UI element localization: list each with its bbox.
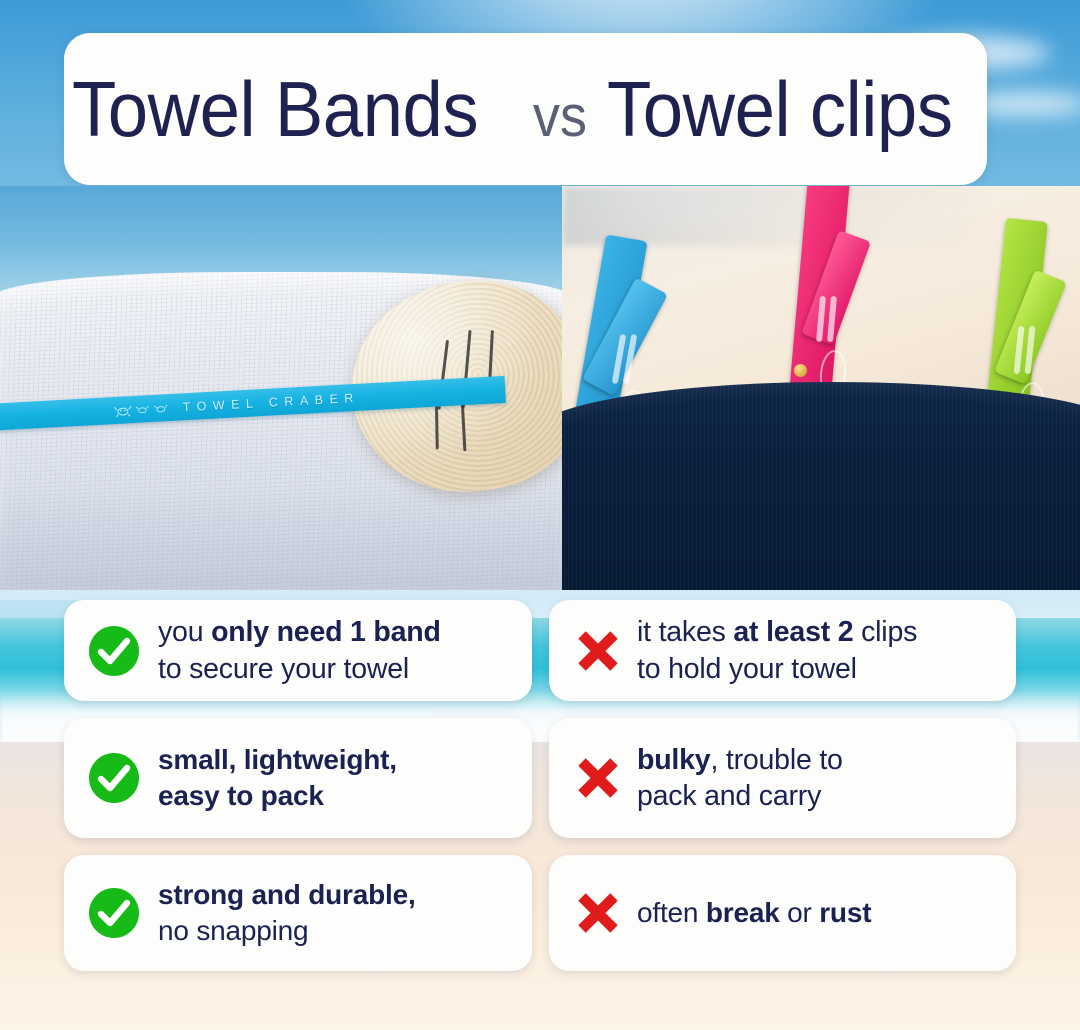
comparison-row: small, lightweight, easy to pack bulky, … — [0, 718, 1080, 838]
con-line2: pack and carry — [637, 780, 821, 812]
pro-text: strong and durable, no snapping — [158, 877, 416, 949]
pro-line1-bold: only need 1 band — [211, 616, 441, 648]
x-mark-icon — [573, 626, 623, 676]
title-card: Towel Bands vs Towel clips — [64, 33, 987, 185]
infographic-root: Towel Bands vs Towel clips — [0, 0, 1080, 1030]
con-line1-post: or — [780, 897, 820, 928]
crab-icon — [134, 402, 150, 416]
con-line1-bold2: rust — [819, 897, 871, 928]
check-circle-icon — [86, 750, 142, 806]
con-line1-post: , trouble to — [710, 744, 842, 776]
pro-line2-bold: easy to pack — [158, 780, 324, 811]
band-brand-text: TOWEL CRABER — [182, 390, 360, 414]
gold-bead-icon — [794, 364, 807, 377]
crab-icon — [113, 402, 132, 418]
pro-line1-bold: strong and durable, — [158, 879, 416, 910]
page-title-left: Towel Bands — [72, 64, 478, 155]
comparison-grid: you only need 1 band to secure your towe… — [0, 600, 1080, 987]
con-card: it takes at least 2 clips to hold your t… — [549, 600, 1016, 701]
navy-towel-texture — [562, 382, 1080, 590]
photo-band: TOWEL CRABER — [0, 186, 1080, 590]
con-card: often break or rust — [549, 855, 1016, 971]
navy-towel — [562, 382, 1080, 590]
con-line1-pre: often — [637, 897, 706, 928]
pro-line1-pre: you — [158, 616, 211, 648]
towel-shadow — [0, 486, 562, 590]
towel-clips-photo — [562, 186, 1080, 590]
pro-text: small, lightweight, easy to pack — [158, 742, 397, 814]
con-text: often break or rust — [637, 895, 871, 931]
comparison-row: strong and durable, no snapping often br… — [0, 855, 1080, 971]
title-row: Towel Bands vs Towel clips — [72, 64, 978, 155]
con-text: bulky, trouble to pack and carry — [637, 742, 843, 815]
check-circle-icon — [86, 623, 142, 679]
towel-band-photo: TOWEL CRABER — [0, 186, 562, 590]
crab-icon — [152, 401, 169, 415]
con-line1-post: clips — [853, 616, 917, 648]
pro-card: small, lightweight, easy to pack — [64, 718, 532, 838]
comparison-row: you only need 1 band to secure your towe… — [0, 600, 1080, 701]
check-circle-icon — [86, 885, 142, 941]
x-mark-icon — [573, 753, 623, 803]
hat-stitch-icon — [461, 401, 467, 451]
pro-line1-bold: small, lightweight, — [158, 744, 397, 775]
pro-line2: to secure your towel — [158, 653, 409, 685]
x-mark-icon — [573, 888, 623, 938]
con-line1-bold: at least 2 — [733, 616, 853, 648]
pro-card: you only need 1 band to secure your towe… — [64, 600, 532, 701]
con-line1-pre: it takes — [637, 616, 733, 648]
pro-card: strong and durable, no snapping — [64, 855, 532, 971]
con-card: bulky, trouble to pack and carry — [549, 718, 1016, 838]
con-line1-bold: break — [706, 897, 780, 928]
crab-logo-group — [113, 400, 169, 418]
page-title-right: Towel clips — [607, 64, 953, 155]
page-title-vs: vs — [533, 83, 587, 150]
con-line1-bold: bulky — [637, 744, 710, 776]
con-line2: to hold your towel — [637, 653, 857, 685]
pro-text: you only need 1 band to secure your towe… — [158, 614, 441, 687]
pro-line2: no snapping — [158, 915, 308, 946]
con-text: it takes at least 2 clips to hold your t… — [637, 614, 917, 687]
